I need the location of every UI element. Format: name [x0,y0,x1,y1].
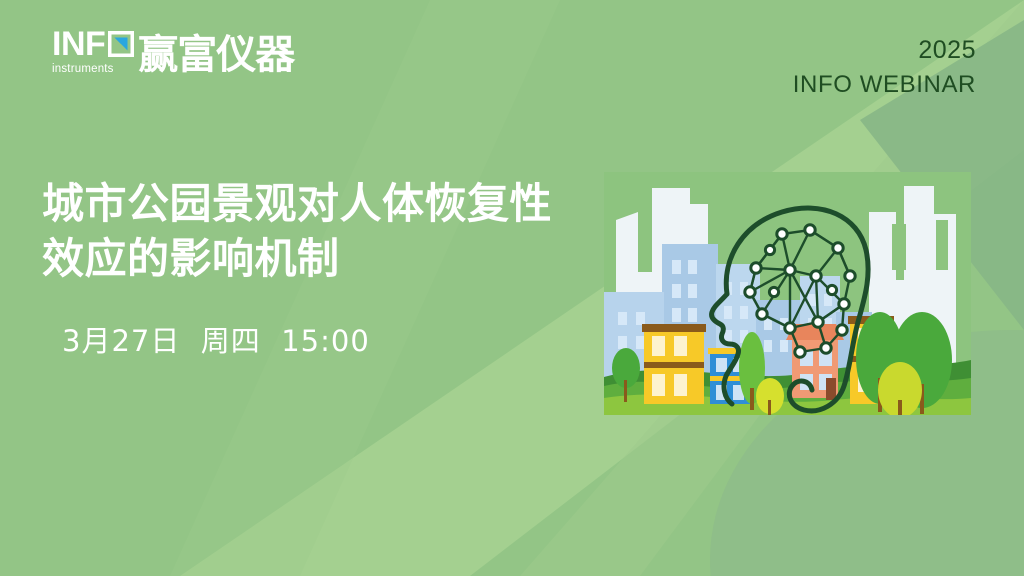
logo-chinese-name: 赢富仪器 [138,35,294,75]
page-title: 城市公园景观对人体恢复性 效应的影响机制 [42,176,602,287]
house-yellow-left [642,324,706,404]
illustration-svg [604,172,971,415]
brand-logo[interactable]: INF instruments 赢富仪器 [52,28,294,76]
webinar-label: INFO WEBINAR [793,69,976,100]
title-line-2: 效应的影响机制 [42,231,602,286]
webinar-year: 2025 [793,36,976,65]
title-line-1: 城市公园景观对人体恢复性 [42,176,602,231]
cube-glyph [108,31,134,57]
logo-wordmark: INF [52,28,105,60]
info-cube-logo-icon [108,31,134,57]
house-orange [786,324,844,400]
logo-latin-group: INF instruments [52,28,134,76]
webinar-meta: 2025 INFO WEBINAR [793,36,976,100]
logo-tagline: instruments [52,63,114,75]
city-park-brain-illustration [604,172,971,415]
webinar-poster: INF instruments 赢富仪器 2025 INFO WEBINAR 城… [0,0,1024,576]
logo-info-row: INF [52,28,134,60]
schedule-text: 3月27日 周四 15:00 [62,318,370,360]
